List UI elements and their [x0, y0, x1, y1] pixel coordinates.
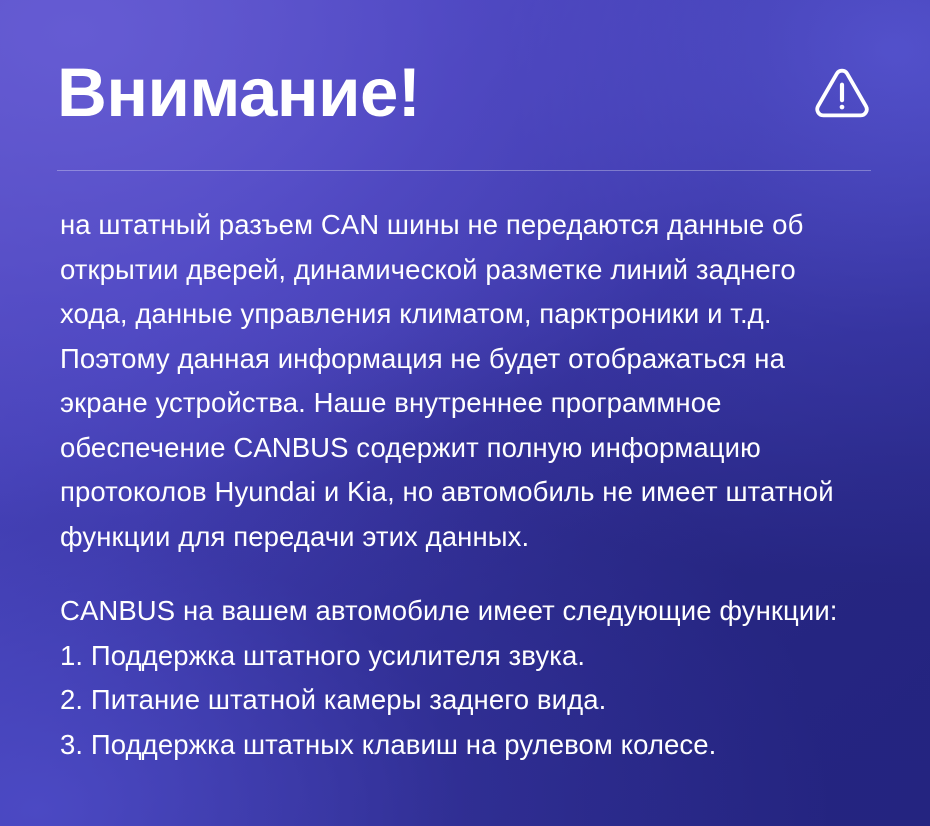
functions-heading-line: CANBUS на вашем автомобиле имеет следующ…: [60, 589, 890, 634]
functions-heading: CANBUS на вашем автомобиле имеет следующ…: [60, 589, 890, 634]
paragraph-line: обеспечение CANBUS содержит полную инфор…: [60, 426, 890, 471]
warning-banner: Внимание! на штатный разъем CAN шины не …: [0, 0, 930, 826]
banner-header: Внимание!: [57, 46, 873, 138]
list-item: 3. Поддержка штатных клавиш на рулевом к…: [60, 723, 890, 768]
banner-content: на штатный разъем CAN шины не передаются…: [60, 203, 890, 767]
list-item: 1. Поддержка штатного усилителя звука.: [60, 634, 890, 679]
functions-list: 1. Поддержка штатного усилителя звука. 2…: [60, 634, 890, 768]
paragraph-line: хода, данные управления климатом, парктр…: [60, 292, 890, 337]
paragraph-line: экране устройства. Наше внутреннее прогр…: [60, 381, 890, 426]
header-divider: [57, 170, 871, 171]
paragraph-spacer: [60, 559, 890, 589]
list-item: 2. Питание штатной камеры заднего вида.: [60, 678, 890, 723]
paragraph-line: функции для передачи этих данных.: [60, 515, 890, 560]
paragraph-line: на штатный разъем CAN шины не передаются…: [60, 203, 890, 248]
intro-paragraph: на штатный разъем CAN шины не передаются…: [60, 203, 890, 559]
paragraph-line: Поэтому данная информация не будет отобр…: [60, 337, 890, 382]
paragraph-line: протоколов Hyundai и Kia, но автомобиль …: [60, 470, 890, 515]
paragraph-line: открытии дверей, динамической разметке л…: [60, 248, 890, 293]
warning-triangle-icon: [813, 63, 871, 121]
page-title: Внимание!: [57, 58, 420, 127]
